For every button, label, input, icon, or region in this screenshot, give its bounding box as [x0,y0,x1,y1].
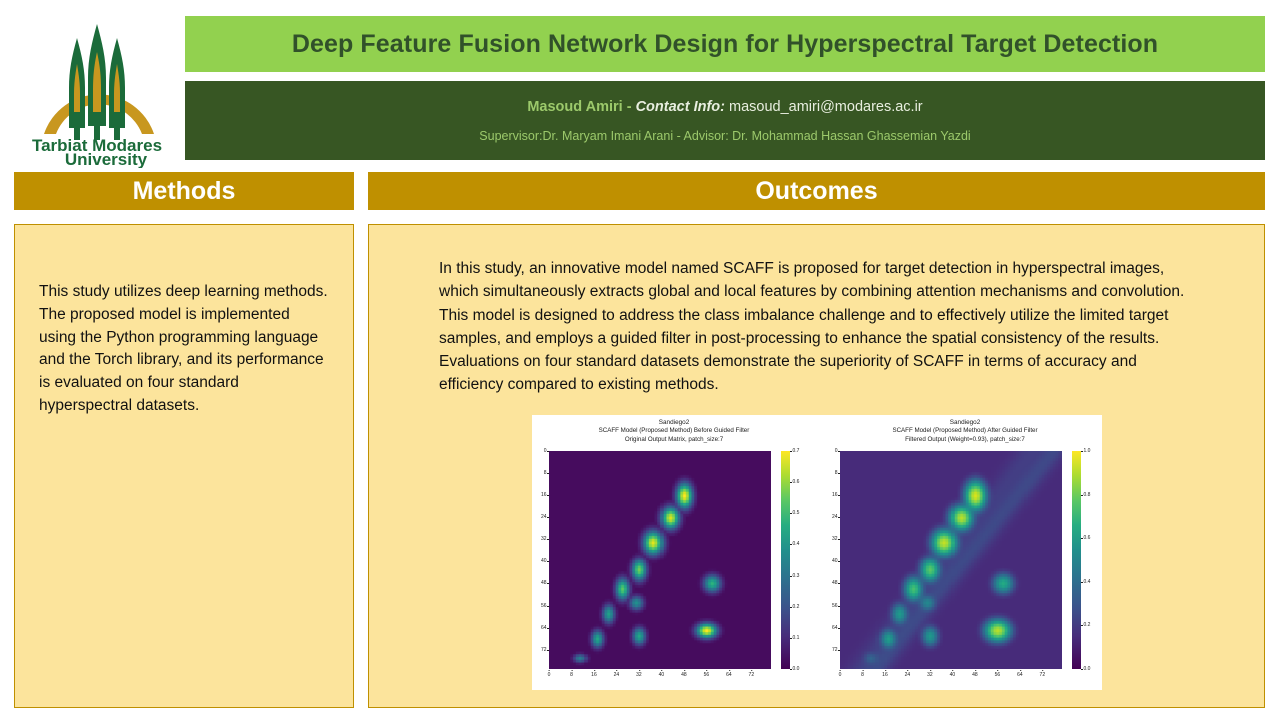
x-axis-tick: 0 [839,672,842,678]
methods-panel: This study utilizes deep learning method… [14,224,354,708]
colorbar-tick: 0.4 [1084,579,1091,585]
supervisor-line: Supervisor:Dr. Maryam Imani Arani - Advi… [479,129,970,143]
methods-body-text: This study utilizes deep learning method… [39,281,329,418]
right-plot-subtitle-2: Filtered Output (Weight=0.93), patch_siz… [826,436,1104,444]
colorbar-tick: 0.2 [793,604,800,610]
colorbar-tick: 0.2 [1084,622,1091,628]
section-header-outcomes: Outcomes [368,172,1265,210]
page-title: Deep Feature Fusion Network Design for H… [292,30,1158,59]
x-axis-tick: 64 [726,672,732,678]
university-logo: Tarbiat Modares University [14,8,180,168]
right-axes: 081624324048566472081624324048566472 [840,451,1062,669]
right-axes-inner: 081624324048566472081624324048566472 [840,451,1062,669]
contact-email[interactable]: masoud_amiri@modares.ac.ir [729,99,923,115]
y-axis-tick: 0 [544,448,547,454]
heatmap-before-guided-filter: Sandiego2 SCAFF Model (Proposed Method) … [535,415,813,690]
author-separator: - [623,99,636,115]
x-axis-tick: 56 [704,672,710,678]
left-plot-subtitle-1: SCAFF Model (Proposed Method) Before Gui… [535,427,813,435]
y-axis-tick: 40 [541,558,547,564]
author-bar: Masoud Amiri - Contact Info: masoud_amir… [185,81,1265,160]
y-axis-tick: 40 [832,558,838,564]
outcomes-heading-label: Outcomes [755,177,877,206]
right-plot-subtitle-1: SCAFF Model (Proposed Method) After Guid… [826,427,1104,435]
right-colorbar-gradient [1072,451,1081,669]
x-axis-tick: 8 [861,672,864,678]
x-axis-tick: 8 [570,672,573,678]
y-axis-tick: 16 [832,492,838,498]
x-axis-tick: 32 [927,672,933,678]
x-axis-tick: 40 [950,672,956,678]
x-axis-tick: 72 [1040,672,1046,678]
y-axis-tick: 48 [832,580,838,586]
y-axis-tick: 48 [541,580,547,586]
author-contact-line: Masoud Amiri - Contact Info: masoud_amir… [527,99,922,115]
colorbar-tick: 0.5 [793,510,800,516]
poster-title-bar: Deep Feature Fusion Network Design for H… [185,16,1265,72]
x-axis-tick: 32 [636,672,642,678]
outcomes-body-text: In this study, an innovative model named… [439,257,1189,397]
y-axis-tick: 32 [832,536,838,542]
methods-heading-label: Methods [133,177,236,206]
left-plot-dataset: Sandiego2 [535,419,813,427]
right-plot-title: Sandiego2 SCAFF Model (Proposed Method) … [826,419,1104,444]
x-axis-tick: 24 [614,672,620,678]
y-axis-tick: 8 [835,470,838,476]
x-axis-tick: 40 [659,672,665,678]
outcomes-panel: In this study, an innovative model named… [368,224,1265,708]
logo-graphic: Tarbiat Modares University [14,8,180,168]
colorbar-tick: 0.6 [1084,535,1091,541]
x-axis-tick: 16 [882,672,888,678]
x-axis-tick: 0 [548,672,551,678]
x-axis-tick: 16 [591,672,597,678]
contact-info-label: Contact Info: [636,99,725,115]
y-axis-tick: 0 [835,448,838,454]
right-colorbar: 0.00.20.40.60.81.0 [1072,451,1081,669]
heatmap-after-guided-filter: Sandiego2 SCAFF Model (Proposed Method) … [826,415,1104,690]
left-plot-subtitle-2: Original Output Matrix, patch_size:7 [535,436,813,444]
y-axis-tick: 56 [541,603,547,609]
y-axis-tick: 24 [832,514,838,520]
x-axis-tick: 72 [749,672,755,678]
left-axes: 081624324048566472081624324048566472 [549,451,771,669]
y-axis-tick: 8 [544,470,547,476]
y-axis-tick: 16 [541,492,547,498]
right-plot-dataset: Sandiego2 [826,419,1104,427]
left-heatmap-canvas [549,451,771,669]
y-axis-tick: 56 [832,603,838,609]
y-axis-tick: 64 [541,625,547,631]
colorbar-tick: 0.3 [793,573,800,579]
colorbar-tick: 0.6 [793,479,800,485]
colorbar-tick: 0.8 [1084,492,1091,498]
x-axis-tick: 56 [995,672,1001,678]
left-plot-title: Sandiego2 SCAFF Model (Proposed Method) … [535,419,813,444]
left-axes-inner: 081624324048566472081624324048566472 [549,451,771,669]
results-figure: Sandiego2 SCAFF Model (Proposed Method) … [532,415,1102,690]
y-axis-tick: 32 [541,536,547,542]
y-axis-tick: 24 [541,514,547,520]
colorbar-tick: 0.0 [1084,666,1091,672]
left-colorbar-gradient [781,451,790,669]
colorbar-tick: 0.0 [793,666,800,672]
section-header-methods: Methods [14,172,354,210]
x-axis-tick: 48 [681,672,687,678]
x-axis-tick: 64 [1017,672,1023,678]
x-axis-tick: 48 [972,672,978,678]
colorbar-tick: 0.1 [793,635,800,641]
y-axis-tick: 72 [832,647,838,653]
x-axis-tick: 24 [905,672,911,678]
y-axis-tick: 64 [832,625,838,631]
poster-canvas: Tarbiat Modares University Deep Feature … [0,0,1280,720]
logo-name-line2: University [65,150,148,168]
colorbar-tick: 0.4 [793,541,800,547]
colorbar-tick: 1.0 [1084,448,1091,454]
y-axis-tick: 72 [541,647,547,653]
left-colorbar: 0.00.10.20.30.40.50.60.7 [781,451,790,669]
author-name: Masoud Amiri [527,99,622,115]
right-heatmap-canvas [840,451,1062,669]
colorbar-tick: 0.7 [793,448,800,454]
